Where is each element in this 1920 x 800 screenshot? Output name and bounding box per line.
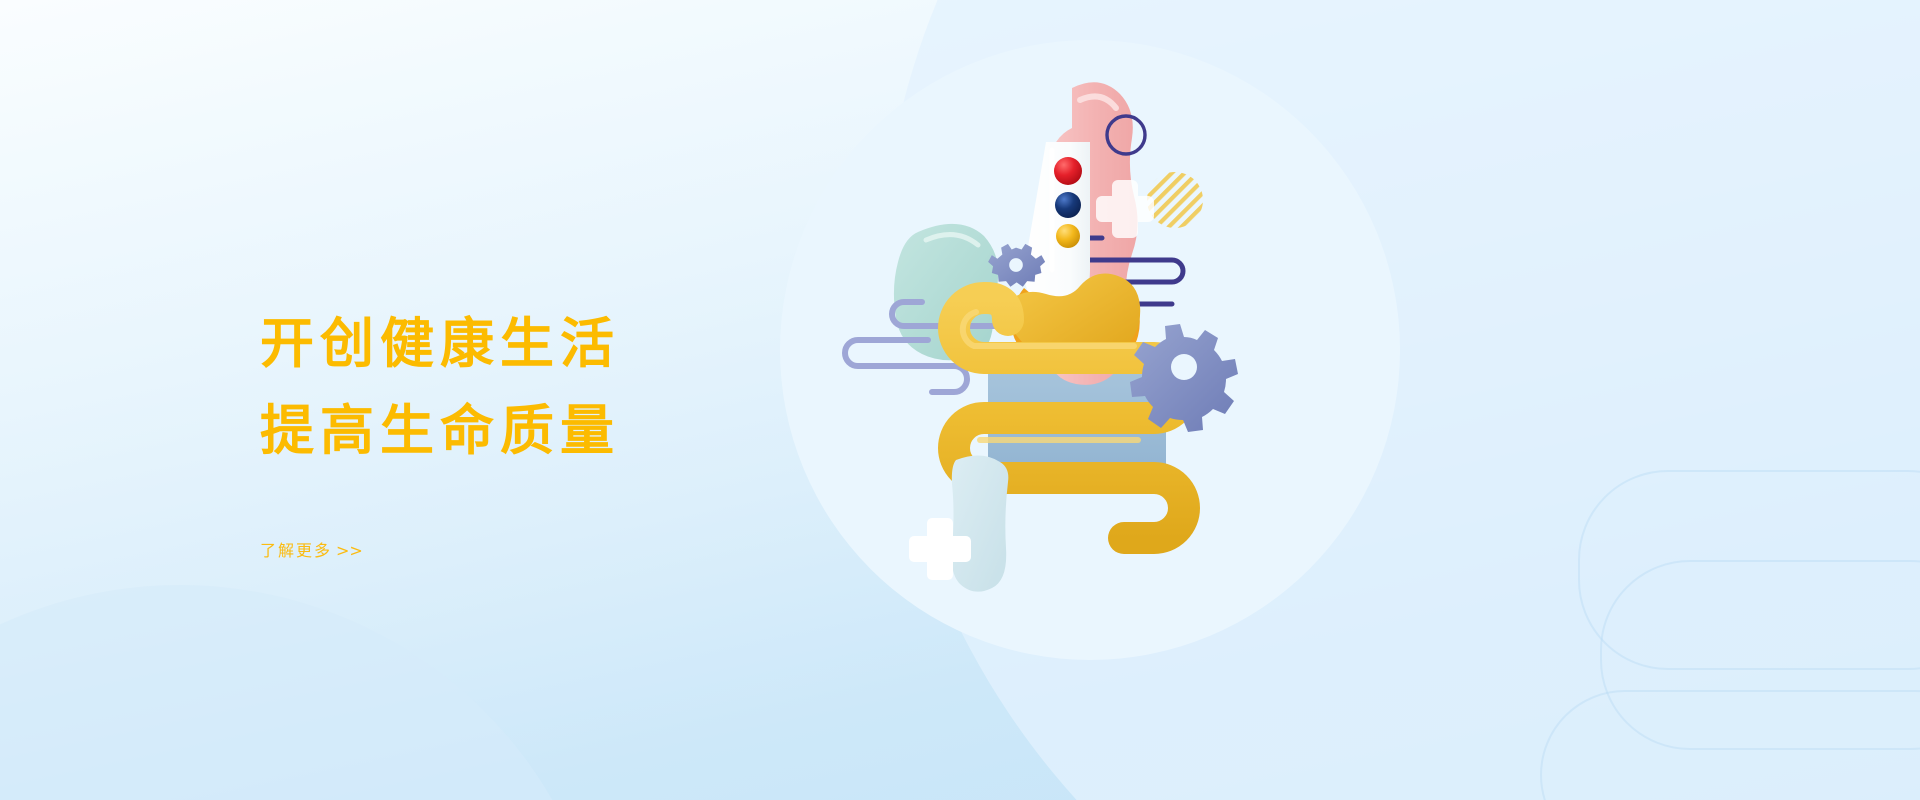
illustration-svg <box>780 40 1440 700</box>
background-rounded-rect-3 <box>1540 690 1920 800</box>
sphere-red <box>1054 157 1082 185</box>
hero-banner: 开创健康生活 提高生命质量 了解更多>> <box>0 0 1920 800</box>
sphere-navy <box>1055 192 1081 218</box>
sphere-gold <box>1056 224 1080 248</box>
chevron-right-icon: >> <box>336 541 363 560</box>
learn-more-link[interactable]: 了解更多>> <box>260 537 363 561</box>
background-blob-left <box>0 585 610 800</box>
vial-pale <box>952 455 1009 591</box>
learn-more-label: 了解更多 <box>260 541 332 560</box>
striped-circle-yellow <box>1147 172 1203 228</box>
hero-illustration <box>780 40 1440 700</box>
